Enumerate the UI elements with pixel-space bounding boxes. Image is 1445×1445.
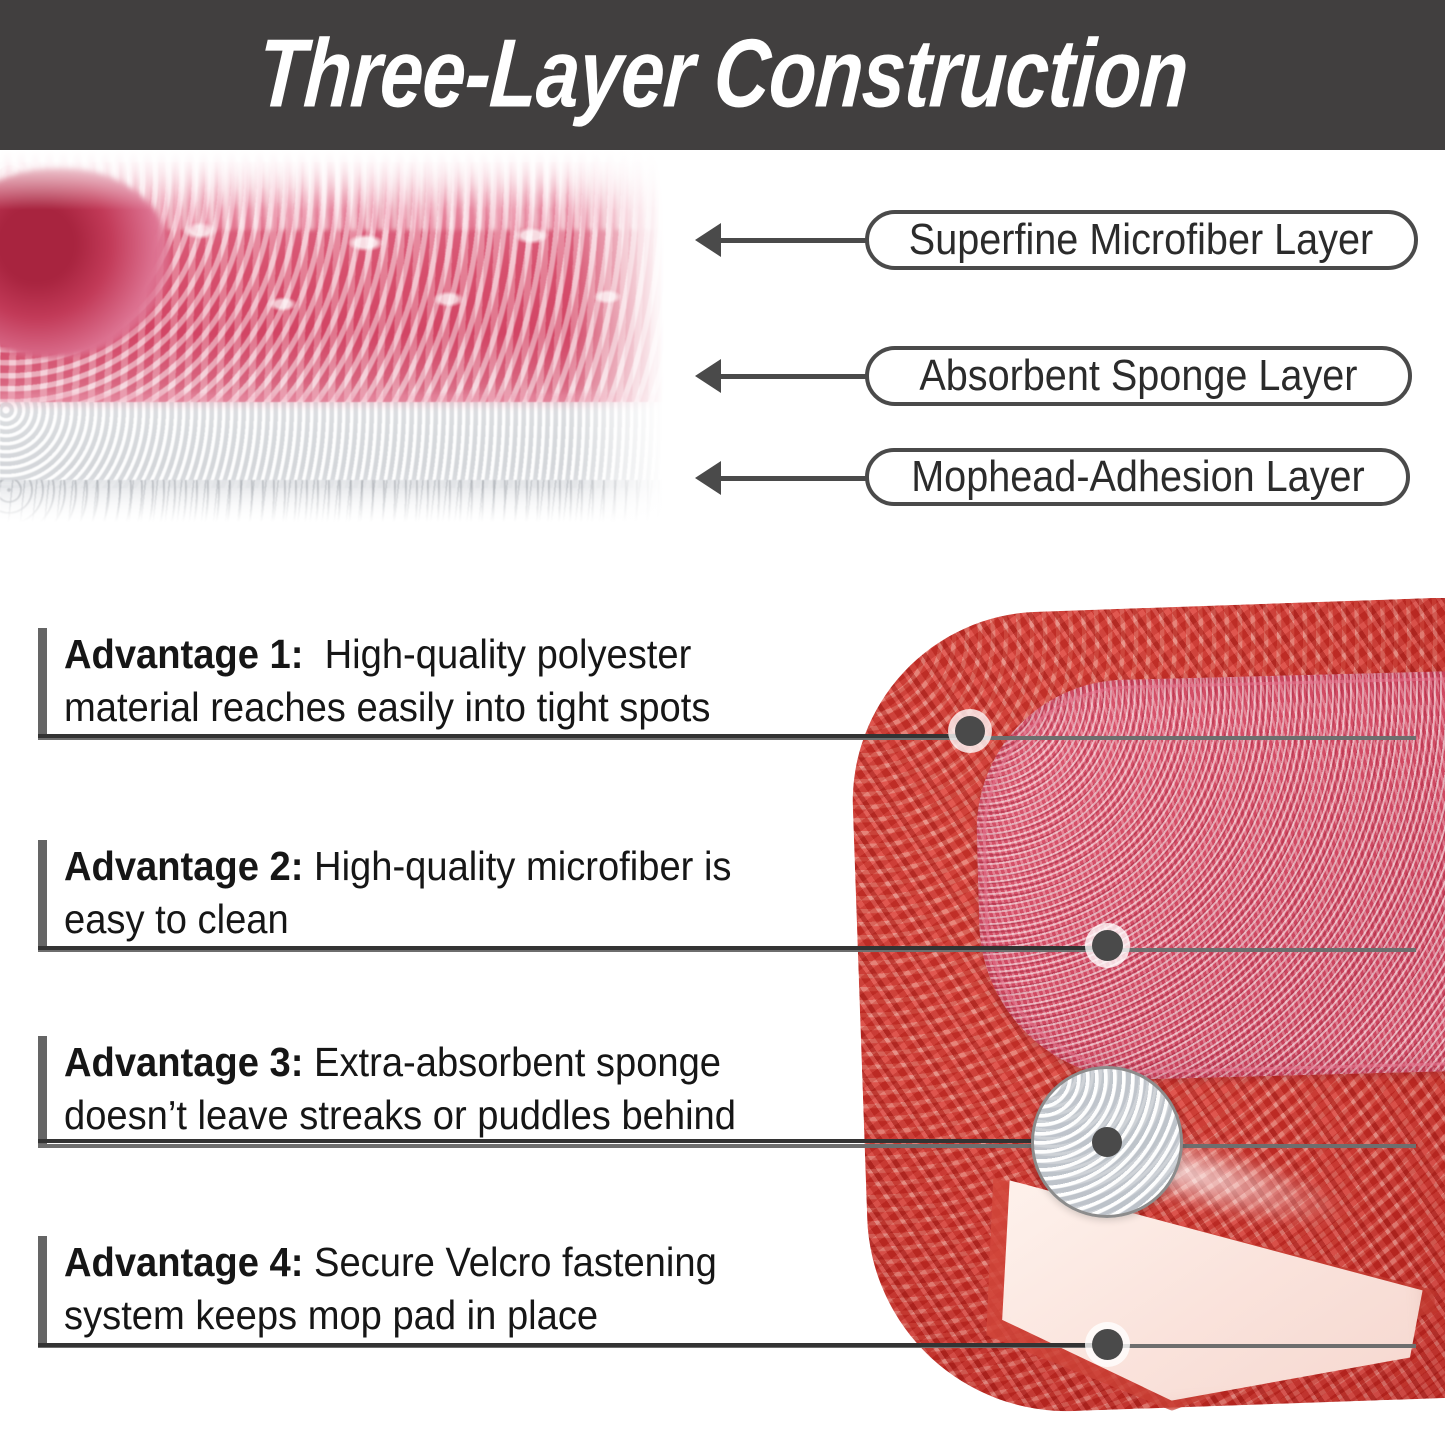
callout-dot-advantage-1 xyxy=(955,716,985,746)
advantage-title: Advantage 4: xyxy=(64,1239,303,1285)
layer-label-absorbent-sponge[interactable]: Absorbent Sponge Layer xyxy=(865,346,1412,406)
sponge-magnifier-inset xyxy=(1031,1066,1183,1218)
advantage-line-2: doesn’t leave streaks or puddles behind xyxy=(64,1089,736,1142)
header-banner: Three-Layer Construction xyxy=(0,0,1445,150)
advantage-text: Advantage 1: High-quality polyester mate… xyxy=(64,628,794,735)
layer-label-text: Mophead-Adhesion Layer xyxy=(911,455,1365,499)
layer-label-mophead-adhesion[interactable]: Mophead-Adhesion Layer xyxy=(865,448,1410,506)
advantage-line-2: material reaches easily into tight spots xyxy=(64,681,710,734)
arrow-left-icon xyxy=(695,223,721,257)
advantage-block-3: Advantage 3: Extra-absorbent sponge does… xyxy=(38,1036,1416,1148)
callout-dot-advantage-4 xyxy=(1092,1329,1123,1360)
photo-fade-right xyxy=(570,150,690,522)
advantage-block-4: Advantage 4: Secure Velcro fastening sys… xyxy=(38,1236,1416,1348)
page-title: Three-Layer Construction xyxy=(0,25,1445,122)
layer-label-superfine-microfiber[interactable]: Superfine Microfiber Layer xyxy=(865,210,1418,270)
infographic-page: Three-Layer Construction Superfine Micro… xyxy=(0,0,1445,1445)
advantage-block-1: Advantage 1: High-quality polyester mate… xyxy=(38,628,1416,740)
advantage-text: Advantage 2: High-quality microfiber is … xyxy=(64,840,794,947)
callout-line-advantage-4 xyxy=(38,1343,1100,1347)
advantage-title: Advantage 1: xyxy=(64,631,303,677)
arrow-left-icon xyxy=(695,359,721,393)
advantage-accent-bar xyxy=(38,840,47,952)
advantage-text: Advantage 3: Extra-absorbent sponge does… xyxy=(64,1036,794,1143)
advantage-accent-bar xyxy=(38,1036,47,1148)
advantage-line-1: Secure Velcro fastening xyxy=(314,1239,717,1285)
callout-line-advantage-2 xyxy=(38,946,1100,950)
advantage-line-1: High-quality polyester xyxy=(325,631,692,677)
callout-dot-advantage-2 xyxy=(1092,930,1123,961)
leader-line-layer-1 xyxy=(721,238,869,243)
layer-label-text: Absorbent Sponge Layer xyxy=(919,354,1357,398)
advantage-block-2: Advantage 2: High-quality microfiber is … xyxy=(38,840,1416,952)
advantage-line-2: system keeps mop pad in place xyxy=(64,1289,598,1342)
advantage-line-1: High-quality microfiber is xyxy=(314,843,731,889)
advantage-underline xyxy=(38,1144,1416,1148)
leader-line-layer-3 xyxy=(721,476,869,481)
advantage-text: Advantage 4: Secure Velcro fastening sys… xyxy=(64,1236,794,1343)
advantage-accent-bar xyxy=(38,1236,47,1348)
advantage-title: Advantage 3: xyxy=(64,1039,303,1085)
callout-line-advantage-1 xyxy=(38,734,972,738)
advantage-line-2: easy to clean xyxy=(64,893,289,946)
page-title-text: Three-Layer Construction xyxy=(254,25,1190,122)
callout-dot-advantage-3 xyxy=(1092,1127,1122,1157)
arrow-left-icon xyxy=(695,461,721,495)
advantage-accent-bar xyxy=(38,628,47,740)
callout-line-advantage-3 xyxy=(38,1139,1108,1143)
advantage-title: Advantage 2: xyxy=(64,843,303,889)
cross-section-photo xyxy=(0,150,690,522)
layer-label-text: Superfine Microfiber Layer xyxy=(909,218,1373,262)
advantage-line-1: Extra-absorbent sponge xyxy=(314,1039,721,1085)
leader-line-layer-2 xyxy=(721,374,869,379)
